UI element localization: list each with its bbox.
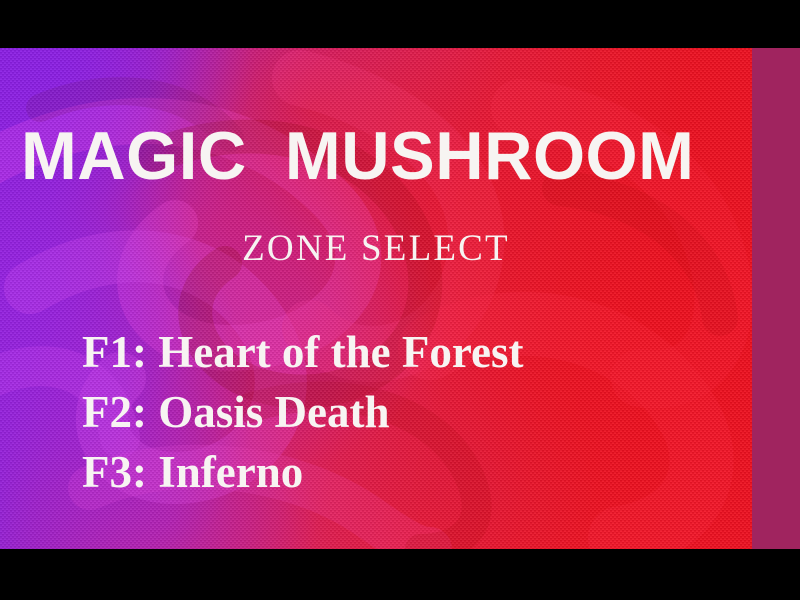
game-title: MAGIC MUSHROOM: [21, 122, 726, 190]
zone-option-f1[interactable]: F1: Heart of the Forest: [82, 322, 524, 382]
zone-select-heading: ZONE SELECT: [0, 230, 752, 267]
right-edge-strip: [752, 48, 800, 549]
letterbox-bottom-bar: [0, 549, 800, 600]
letterbox-top-bar: [0, 0, 800, 48]
game-screen: MAGIC MUSHROOM ZONE SELECT F1: Heart of …: [0, 0, 800, 600]
zone-option-f2[interactable]: F2: Oasis Death: [82, 382, 524, 442]
screen-content: MAGIC MUSHROOM ZONE SELECT F1: Heart of …: [0, 0, 800, 600]
zone-option-f3[interactable]: F3: Inferno: [82, 442, 524, 502]
zone-select-list: F1: Heart of the Forest F2: Oasis Death …: [82, 322, 524, 502]
